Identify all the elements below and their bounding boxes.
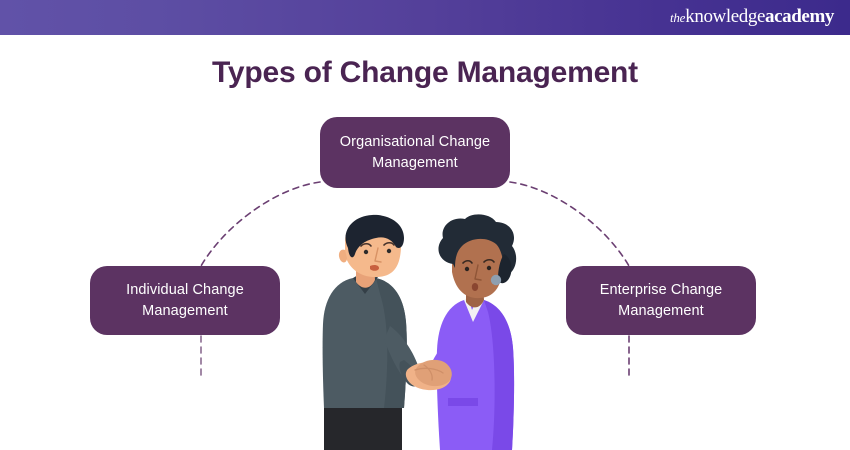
woman-mouth bbox=[472, 283, 478, 291]
man-mouth bbox=[370, 265, 379, 271]
connector-arc-right bbox=[510, 182, 629, 266]
logo-text-the: the bbox=[670, 10, 685, 25]
node-label: Individual Change Management bbox=[102, 280, 268, 322]
logo-text-knowledge: knowledge bbox=[685, 6, 765, 27]
node-organisational-change-management[interactable]: Organisational Change Management bbox=[320, 117, 510, 188]
logo-text-academy: academy bbox=[765, 6, 834, 27]
node-label: Organisational Change Management bbox=[332, 132, 498, 174]
brand-logo: theknowledgeacademy bbox=[670, 4, 834, 31]
infographic-page: theknowledgeacademy Types of Change Mana… bbox=[0, 0, 850, 450]
woman-eye-left bbox=[465, 267, 469, 271]
page-title: Types of Change Management bbox=[0, 56, 850, 90]
two-people-handshake-illustration bbox=[312, 214, 524, 450]
node-individual-change-management[interactable]: Individual Change Management bbox=[90, 266, 280, 335]
man-eye-left bbox=[364, 250, 368, 254]
woman-blazer-pocket bbox=[448, 398, 478, 406]
node-enterprise-change-management[interactable]: Enterprise Change Management bbox=[566, 266, 756, 335]
woman-eye-right bbox=[487, 266, 491, 270]
header-band: theknowledgeacademy bbox=[0, 0, 850, 35]
woman-earring bbox=[491, 275, 501, 285]
connector-arc-left bbox=[201, 182, 320, 266]
node-label: Enterprise Change Management bbox=[578, 280, 744, 322]
man-eye-right bbox=[387, 249, 391, 253]
man-trousers bbox=[324, 404, 402, 450]
